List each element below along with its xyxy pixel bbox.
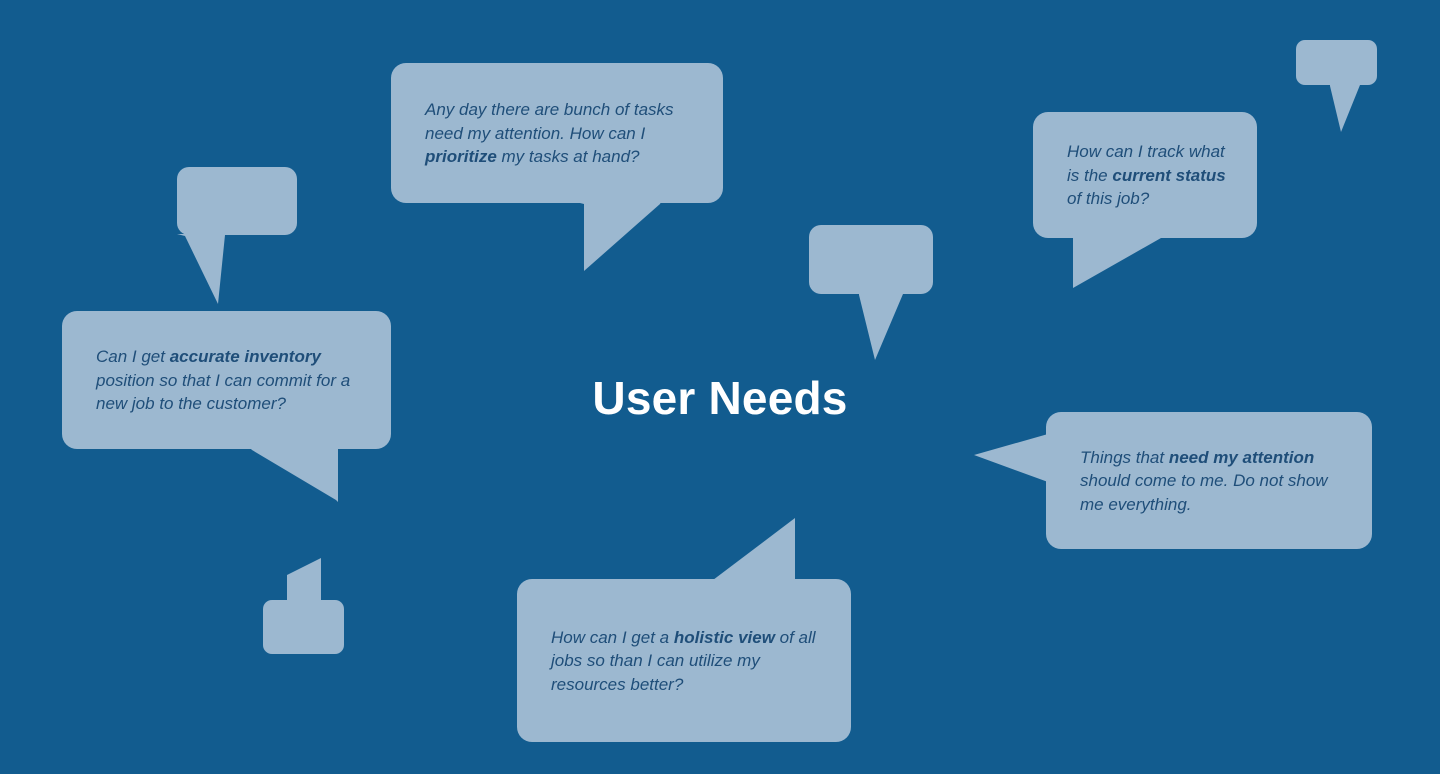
decorative-speech-bubble-center [809, 225, 933, 294]
bubble-text-holistic-view: How can I get a holistic view of all job… [517, 625, 851, 696]
user-needs-diagram: Any day there are bunch of tasks need my… [0, 0, 1440, 774]
decorative-speech-bubble-top-right [1296, 40, 1377, 85]
speech-bubble-tail [177, 234, 287, 306]
speech-bubble-current-status: How can I track what is the current stat… [1033, 112, 1257, 238]
bubble-text-prioritize: Any day there are bunch of tasks need my… [391, 98, 723, 169]
speech-bubble-attention: Things that need my attention should com… [1046, 412, 1372, 549]
speech-bubble-tail [1067, 236, 1177, 294]
speech-bubble-tail [713, 518, 823, 584]
speech-bubble-tail [859, 293, 949, 365]
bubble-text-current-status: How can I track what is the current stat… [1033, 140, 1257, 211]
speech-bubble-tail [250, 448, 370, 508]
decorative-speech-bubble-bottom-left [263, 600, 344, 654]
speech-bubble-prioritize: Any day there are bunch of tasks need my… [391, 63, 723, 203]
bubble-text-attention: Things that need my attention should com… [1046, 445, 1372, 516]
speech-bubble-tail [287, 558, 357, 604]
speech-bubble-tail [966, 430, 1056, 500]
page-title: User Needs [0, 371, 1440, 425]
decorative-speech-bubble-top-left [177, 167, 297, 235]
speech-bubble-holistic-view: How can I get a holistic view of all job… [517, 579, 851, 742]
speech-bubble-tail [576, 202, 686, 277]
speech-bubble-tail [1330, 84, 1400, 136]
